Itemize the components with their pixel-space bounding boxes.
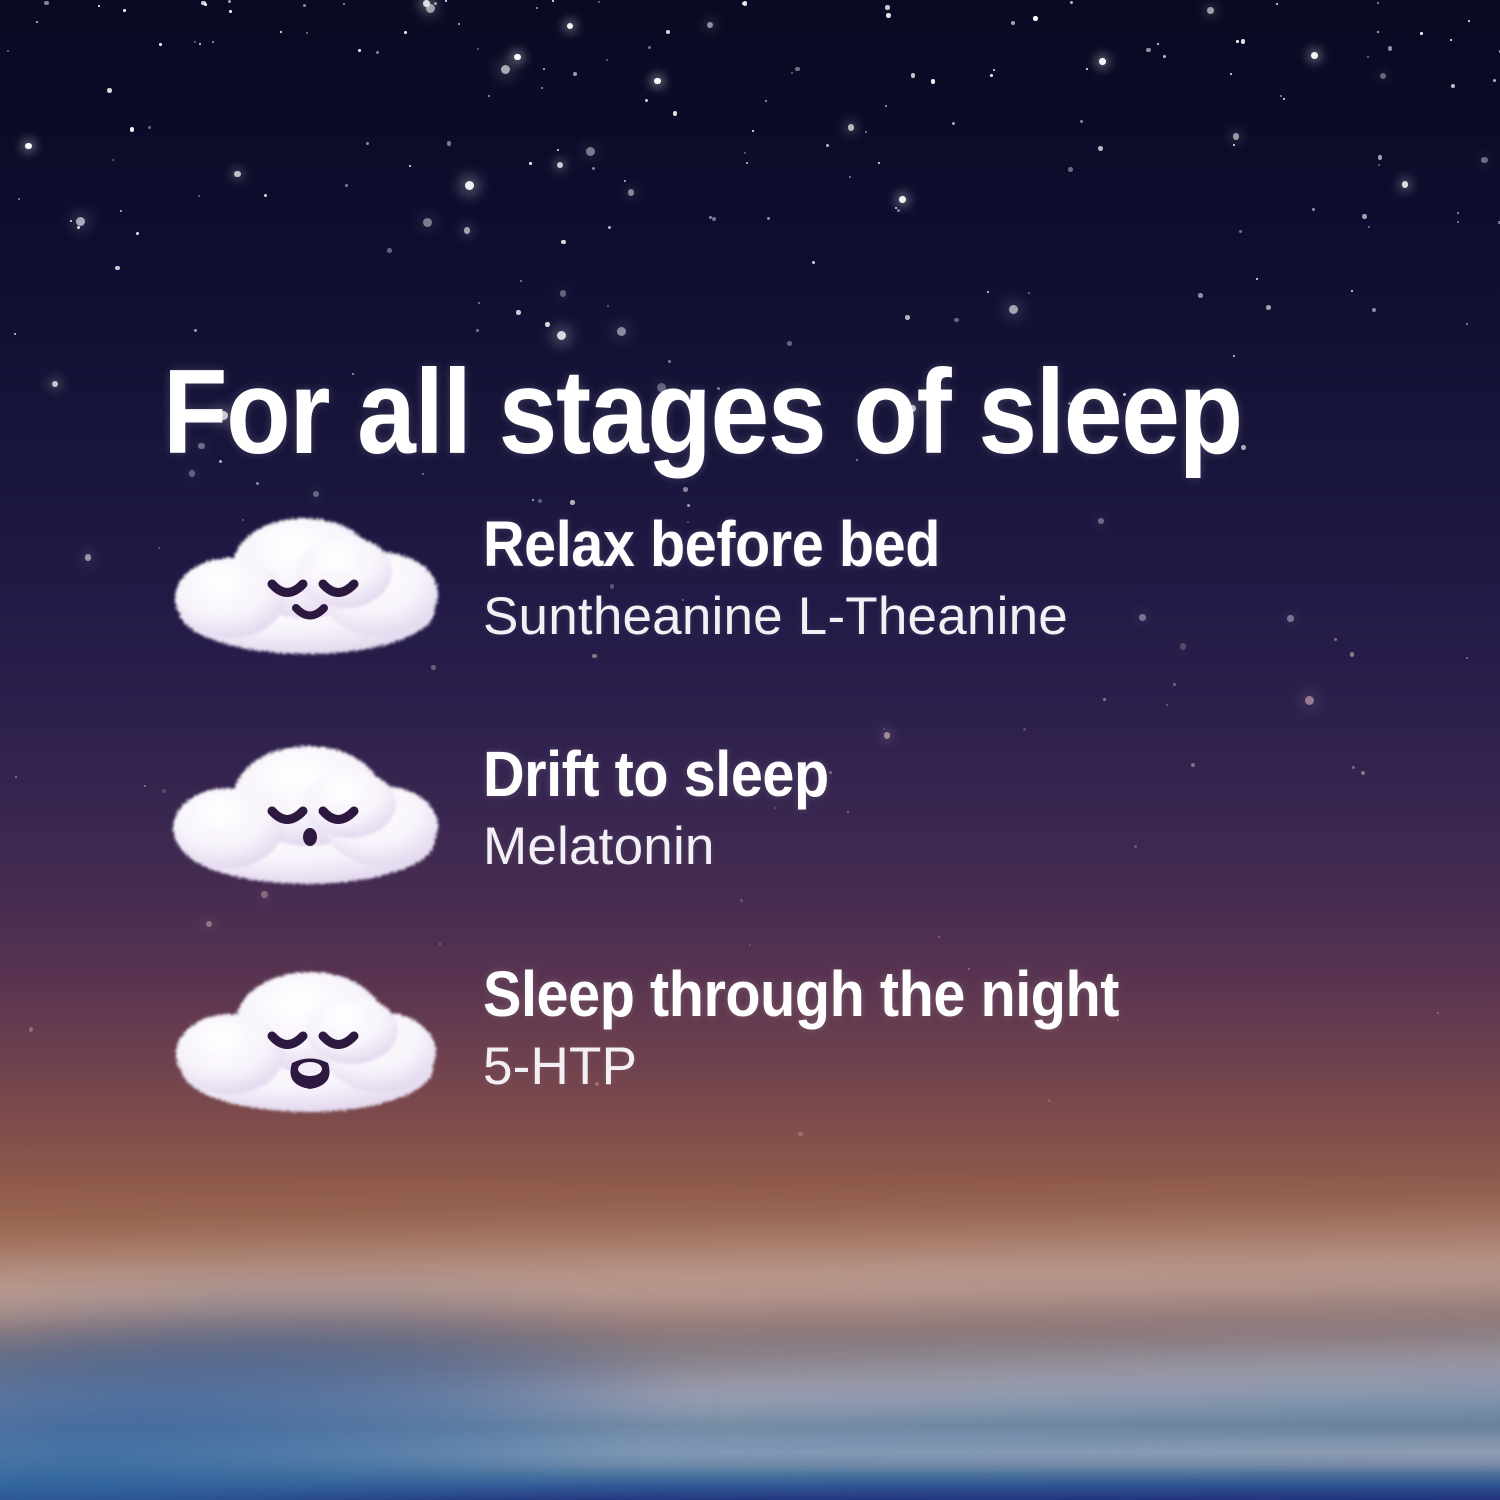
list-item-title: Drift to sleep [483, 742, 1338, 807]
list-item-title: Sleep through the night [483, 962, 1338, 1027]
sleeping-cloud-smile-icon [168, 506, 446, 671]
list-item: Drift to sleep Melatonin [0, 728, 1500, 958]
list-item-text: Sleep through the night 5-HTP [483, 962, 1433, 1095]
sleep-stages-poster: For all stages of sleep [0, 0, 1500, 1500]
sleeping-cloud-yawn-icon [168, 956, 446, 1121]
list-item-text: Relax before bed Suntheanine L-Theanine [483, 512, 1433, 645]
list-item-title: Relax before bed [483, 512, 1338, 577]
list-item-subtitle: 5-HTP [483, 1039, 1433, 1095]
list-item-subtitle: Suntheanine L-Theanine [483, 589, 1433, 645]
sleeping-cloud-small-mouth-icon [168, 736, 446, 901]
list-item: Relax before bed Suntheanine L-Theanine [0, 498, 1500, 728]
list-item: Sleep through the night 5-HTP [0, 948, 1500, 1178]
page-title: For all stages of sleep [163, 352, 1242, 472]
list-item-text: Drift to sleep Melatonin [483, 742, 1433, 875]
list-item-subtitle: Melatonin [483, 819, 1433, 875]
